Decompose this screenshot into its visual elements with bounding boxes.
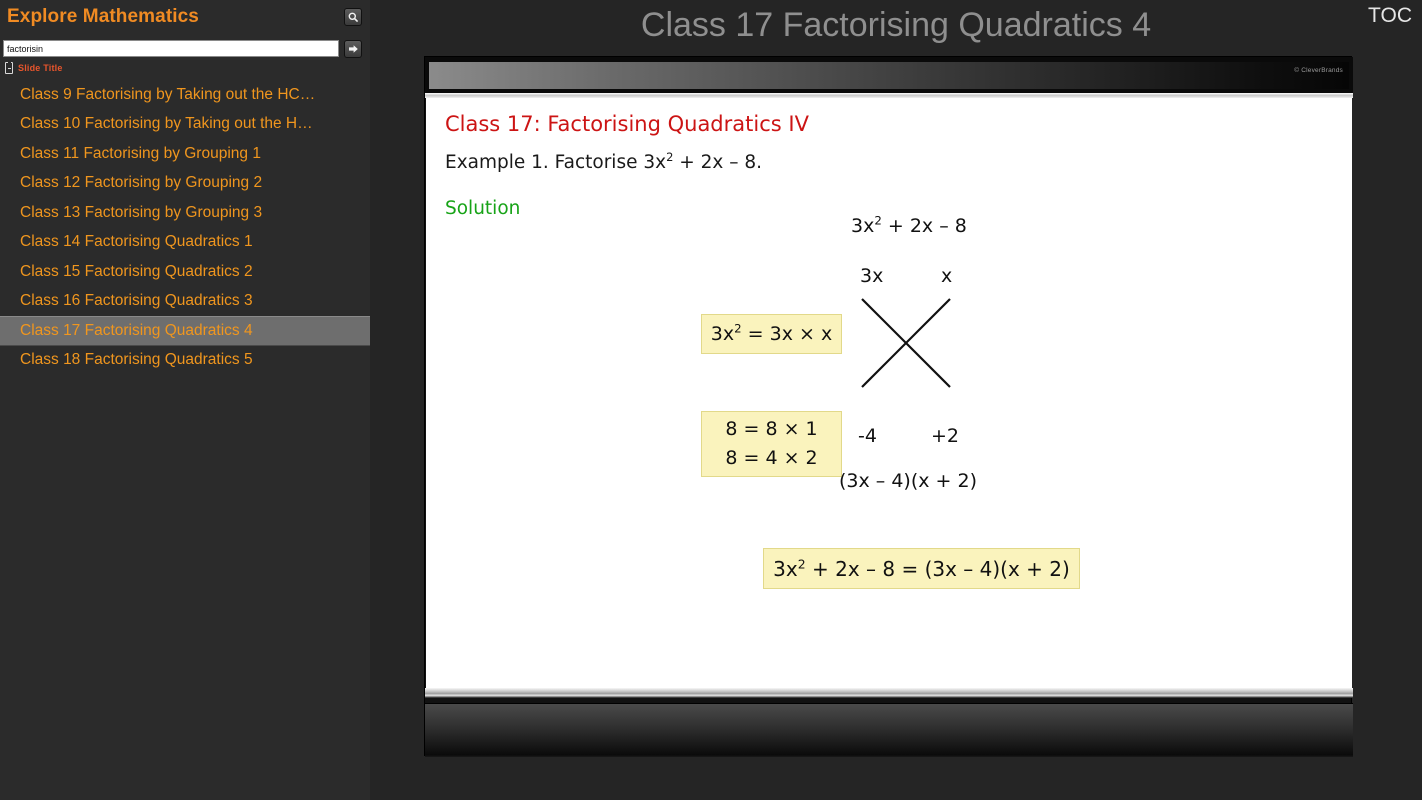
sidebar-item-class-17[interactable]: Class 17 Factorising Quadratics 4 <box>0 316 370 346</box>
sidebar: Explore Mathematics Slide Title Class 9 … <box>0 0 370 800</box>
sidebar-item-class-18[interactable]: Class 18 Factorising Quadratics 5 <box>0 346 370 376</box>
sidebar-header: Explore Mathematics <box>0 0 370 38</box>
cross-label-top-right: x <box>941 265 952 287</box>
box-a-prefix: 3x <box>711 323 734 345</box>
final-suffix: + 2x – 8 = (3x – 4)(x + 2) <box>806 557 1070 581</box>
slide-solution-label: Solution <box>445 198 520 219</box>
list-item-label: Class 14 Factorising Quadratics 1 <box>20 233 253 251</box>
example-suffix: + 2x – 8. <box>673 152 762 173</box>
toc-button[interactable]: TOC <box>1368 4 1412 28</box>
slide-heading: Class 17: Factorising Quadratics IV <box>445 112 809 136</box>
list-item-label: Class 18 Factorising Quadratics 5 <box>20 351 253 369</box>
sidebar-item-class-9[interactable]: Class 9 Factorising by Taking out the HC… <box>0 80 370 110</box>
slide-list: Class 9 Factorising by Taking out the HC… <box>0 80 370 375</box>
search-row <box>0 40 370 58</box>
cross-label-bottom-right: +2 <box>931 425 959 447</box>
copyright-notice: © CleverBrands <box>1294 67 1343 74</box>
viewer-top-bar: © CleverBrands <box>425 57 1353 93</box>
list-item-label: Class 13 Factorising by Grouping 3 <box>20 204 262 222</box>
viewer-top-bar-gradient: © CleverBrands <box>429 62 1349 89</box>
box-a-suffix: = 3x × x <box>742 323 833 345</box>
list-item-label: Class 15 Factorising Quadratics 2 <box>20 263 253 281</box>
slide-viewer: © CleverBrands Class 17: Factorising Qua… <box>424 56 1352 756</box>
highlight-box-constant-factors: 8 = 8 × 1 8 = 4 × 2 <box>701 411 842 477</box>
main-panel: Class 17 Factorising Quadratics 4 TOC © … <box>370 0 1422 800</box>
viewer-bevel-bottom <box>425 688 1353 698</box>
search-icon[interactable] <box>344 8 362 26</box>
search-input[interactable] <box>3 40 339 57</box>
box-b-line-2: 8 = 4 × 2 <box>725 444 817 473</box>
highlight-box-final-answer: 3x2 + 2x – 8 = (3x – 4)(x + 2) <box>763 548 1080 589</box>
expr-prefix: 3x <box>851 215 874 237</box>
example-prefix: Example 1. Factorise 3x <box>445 152 666 173</box>
expr-exponent: 2 <box>874 214 882 228</box>
section-label: Slide Title <box>18 63 63 73</box>
slide-title-section-header: Slide Title <box>0 60 370 76</box>
final-prefix: 3x <box>773 557 798 581</box>
cross-label-bottom-left: -4 <box>858 425 877 447</box>
box-b-line-1: 8 = 8 × 1 <box>725 415 817 444</box>
list-item-label: Class 9 Factorising by Taking out the HC… <box>20 86 315 104</box>
app-title: Explore Mathematics <box>7 6 199 28</box>
sidebar-item-class-10[interactable]: Class 10 Factorising by Taking out the H… <box>0 110 370 140</box>
expr-suffix: + 2x – 8 <box>882 215 967 237</box>
list-item-label: Class 17 Factorising Quadratics 4 <box>20 322 253 340</box>
book-icon <box>5 62 13 74</box>
final-exponent: 2 <box>798 556 806 571</box>
list-item-label: Class 16 Factorising Quadratics 3 <box>20 292 253 310</box>
list-item-label: Class 12 Factorising by Grouping 2 <box>20 174 262 192</box>
sidebar-item-class-12[interactable]: Class 12 Factorising by Grouping 2 <box>0 169 370 199</box>
slide-canvas: Class 17: Factorising Quadratics IV Exam… <box>426 98 1352 688</box>
application-window: Explore Mathematics Slide Title Class 9 … <box>0 0 1422 800</box>
cross-label-top-left: 3x <box>860 265 883 287</box>
page-title: Class 17 Factorising Quadratics 4 <box>370 6 1422 45</box>
box-a-line: 3x2 = 3x × x <box>711 323 832 345</box>
sidebar-item-class-15[interactable]: Class 15 Factorising Quadratics 2 <box>0 257 370 287</box>
cross-multiplication-icon <box>856 293 956 393</box>
final-answer-line: 3x2 + 2x – 8 = (3x – 4)(x + 2) <box>773 557 1070 581</box>
sidebar-item-class-11[interactable]: Class 11 Factorising by Grouping 1 <box>0 139 370 169</box>
sidebar-item-class-16[interactable]: Class 16 Factorising Quadratics 3 <box>0 287 370 317</box>
quadratic-expression: 3x2 + 2x – 8 <box>851 215 967 237</box>
highlight-box-leading-factor: 3x2 = 3x × x <box>701 314 842 354</box>
box-a-exponent: 2 <box>734 322 742 336</box>
slide-example-line: Example 1. Factorise 3x2 + 2x – 8. <box>445 152 762 173</box>
sidebar-item-class-13[interactable]: Class 13 Factorising by Grouping 3 <box>0 198 370 228</box>
sidebar-item-class-14[interactable]: Class 14 Factorising Quadratics 1 <box>0 228 370 258</box>
list-item-label: Class 10 Factorising by Taking out the H… <box>20 115 313 133</box>
factorised-form: (3x – 4)(x + 2) <box>839 470 977 492</box>
viewer-bottom-bar[interactable] <box>425 703 1353 757</box>
list-item-label: Class 11 Factorising by Grouping 1 <box>20 145 261 163</box>
